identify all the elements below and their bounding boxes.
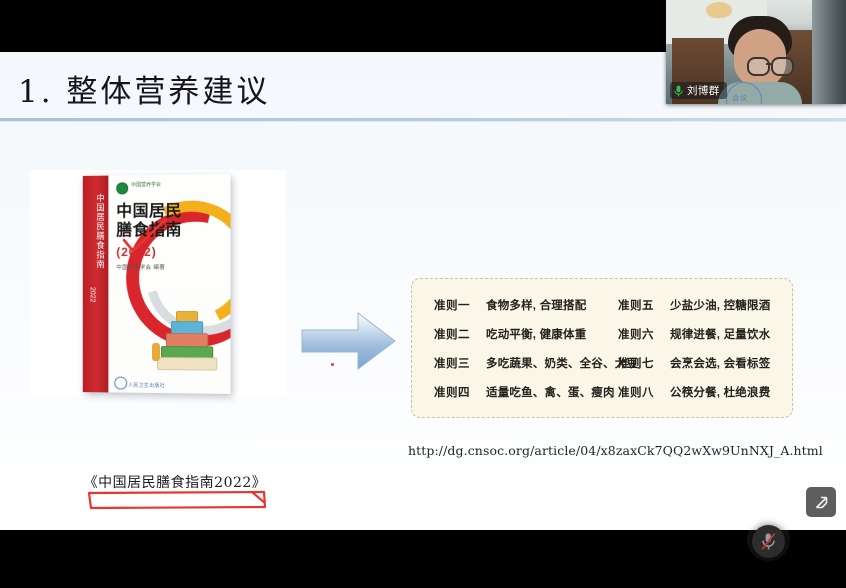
title-divider-secondary bbox=[0, 121, 846, 122]
guideline-key: 准则六 bbox=[618, 326, 670, 342]
nutrition-society-logo-icon bbox=[116, 182, 128, 194]
publisher-logo-icon bbox=[114, 377, 127, 390]
participant-name: 刘博群 bbox=[687, 83, 720, 98]
cover-org-name: 中国营养学会 bbox=[131, 182, 161, 188]
guideline-value: 少盐少油, 控糖限酒 bbox=[670, 297, 770, 313]
publisher-name: 人民卫生出版社 bbox=[128, 382, 165, 389]
webcam-tile[interactable]: 会议 刘博群 bbox=[666, 0, 846, 104]
meeting-watermark-text: 会议 bbox=[732, 93, 748, 103]
guideline-value: 会烹会选, 会看标签 bbox=[670, 355, 770, 371]
dietary-guidelines-panel: 准则一 食物多样, 合理搭配 准则五 少盐少油, 控糖限酒 准则二 吃动平衡, … bbox=[411, 278, 793, 418]
guideline-key: 准则四 bbox=[434, 384, 486, 400]
guideline-cell: 准则三 多吃蔬果、奶类、全谷、大豆 bbox=[412, 355, 608, 371]
guidelines-grid: 准则一 食物多样, 合理搭配 准则五 少盐少油, 控糖限酒 准则二 吃动平衡, … bbox=[412, 279, 792, 417]
guideline-key: 准则三 bbox=[434, 355, 486, 371]
guideline-cell: 准则四 适量吃鱼、禽、蛋、瘦肉 bbox=[412, 384, 608, 400]
source-url[interactable]: http://dg.cnsoc.org/article/04/x8zaxCk7Q… bbox=[408, 443, 823, 458]
cover-title-line1: 中国居民 bbox=[116, 202, 182, 222]
participant-name-badge: 刘博群 bbox=[670, 82, 727, 99]
guideline-cell: 准则八 公筷分餐, 杜绝浪费 bbox=[608, 384, 792, 400]
page-title: 1. 整体营养建议 bbox=[18, 66, 270, 111]
pagoda-tier-5 bbox=[157, 357, 217, 371]
eyeglasses-bridge bbox=[766, 63, 771, 65]
book-spine-title: 中国居民膳食指南 bbox=[87, 194, 105, 270]
eyeglasses-right-lens bbox=[771, 57, 794, 76]
mic-on-icon bbox=[674, 85, 683, 97]
guideline-key: 准则八 bbox=[618, 384, 670, 400]
guideline-key: 准则五 bbox=[618, 297, 670, 313]
meeting-screen-share-view: 1. 整体营养建议 中国居民膳食指南 2022 中国营养学会 中国居 bbox=[0, 0, 846, 588]
guideline-row: 准则二 吃动平衡, 健康体重 准则六 规律进餐, 足量饮水 bbox=[412, 319, 792, 348]
guideline-row: 准则三 多吃蔬果、奶类、全谷、大豆 准则七 会烹会选, 会看标签 bbox=[412, 348, 792, 377]
guideline-row: 准则四 适量吃鱼、禽、蛋、瘦肉 准则八 公筷分餐, 杜绝浪费 bbox=[412, 377, 792, 406]
book-spine-year: 2022 bbox=[89, 287, 96, 302]
mic-toggle-button[interactable] bbox=[752, 525, 785, 558]
guideline-value: 规律进餐, 足量饮水 bbox=[670, 326, 770, 342]
collapse-button[interactable] bbox=[806, 487, 836, 517]
guideline-key: 准则二 bbox=[434, 326, 486, 342]
cover-title-line2: 膳食指南 bbox=[116, 221, 182, 240]
guideline-value: 适量吃鱼、禽、蛋、瘦肉 bbox=[486, 384, 615, 400]
guideline-cell: 准则五 少盐少油, 控糖限酒 bbox=[608, 297, 792, 313]
guideline-key: 准则七 bbox=[618, 355, 670, 371]
guideline-value: 吃动平衡, 健康体重 bbox=[486, 326, 586, 342]
food-pagoda-illustration bbox=[158, 307, 216, 370]
guideline-cell: 准则六 规律进餐, 足量饮水 bbox=[608, 326, 792, 342]
pagoda-figure-icon bbox=[152, 343, 160, 361]
eyeglasses-left-lens bbox=[747, 57, 770, 76]
guideline-value: 公筷分餐, 杜绝浪费 bbox=[670, 384, 770, 400]
book-spine: 中国居民膳食指南 2022 bbox=[83, 176, 109, 393]
book-front-cover: 中国营养学会 中国居民 膳食指南 (2022) 中国营养学会 编著 bbox=[108, 174, 230, 394]
cover-byline: 中国营养学会 编著 bbox=[116, 263, 165, 271]
book-caption: 《中国居民膳食指南2022》 bbox=[70, 472, 280, 492]
presentation-slide[interactable]: 1. 整体营养建议 中国居民膳食指南 2022 中国营养学会 中国居 bbox=[0, 52, 846, 530]
guideline-cell: 准则一 食物多样, 合理搭配 bbox=[412, 297, 608, 313]
guideline-row: 准则一 食物多样, 合理搭配 准则五 少盐少油, 控糖限酒 bbox=[412, 290, 792, 319]
cover-year: (2022) bbox=[116, 245, 156, 259]
webcam-curtain bbox=[812, 0, 846, 104]
guideline-value: 食物多样, 合理搭配 bbox=[486, 297, 586, 313]
person-face bbox=[734, 29, 786, 87]
blue-right-arrow-icon bbox=[300, 310, 398, 372]
collapse-arrow-icon bbox=[813, 494, 830, 511]
guideline-cell: 准则二 吃动平衡, 健康体重 bbox=[412, 326, 608, 342]
book-3d: 中国居民膳食指南 2022 中国营养学会 中国居民 膳食指南 (2022) 中国… bbox=[83, 174, 231, 394]
red-dot-annotation bbox=[331, 363, 334, 366]
guideline-cell: 准则七 会烹会选, 会看标签 bbox=[608, 355, 792, 371]
mic-muted-icon bbox=[760, 532, 777, 551]
book-cover-image: 中国居民膳食指南 2022 中国营养学会 中国居民 膳食指南 (2022) 中国… bbox=[30, 170, 286, 397]
guideline-key: 准则一 bbox=[434, 297, 486, 313]
